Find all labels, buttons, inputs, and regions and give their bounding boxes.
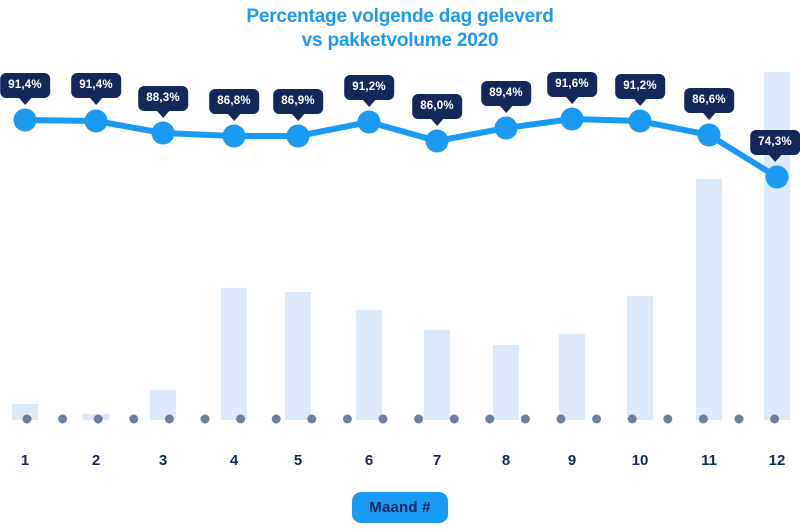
x-axis-title-badge: Maand #	[352, 492, 447, 523]
x-tick-9: 9	[568, 452, 576, 469]
baseline-dot	[592, 415, 601, 424]
value-label-month-9: 91,6%	[547, 72, 597, 97]
x-tick-3: 3	[159, 452, 167, 469]
baseline-dot	[557, 415, 566, 424]
bar-month-7	[424, 330, 450, 420]
x-tick-11: 11	[701, 452, 717, 469]
x-tick-6: 6	[365, 452, 373, 469]
bar-month-5	[285, 292, 311, 420]
x-tick-7: 7	[433, 452, 441, 469]
x-axis: 123456789101112	[0, 452, 800, 482]
baseline-dot	[343, 415, 352, 424]
value-label-month-4: 86,8%	[209, 89, 259, 114]
value-label-month-5: 86,9%	[273, 89, 323, 114]
baseline-dot	[414, 415, 423, 424]
baseline-dot	[770, 415, 779, 424]
bar-month-6	[356, 310, 382, 420]
baseline-dot	[165, 415, 174, 424]
baseline-dot	[450, 415, 459, 424]
baseline-dot	[58, 415, 67, 424]
bar-month-8	[493, 345, 519, 420]
baseline-dot	[236, 415, 245, 424]
x-tick-12: 12	[769, 452, 786, 469]
baseline-dot	[699, 415, 708, 424]
line-marker-month-7[interactable]	[426, 130, 449, 153]
value-label-month-7: 86,0%	[412, 94, 462, 119]
x-tick-1: 1	[21, 452, 29, 469]
bar-month-12	[764, 72, 790, 420]
baseline-dot	[521, 415, 530, 424]
line-marker-month-3[interactable]	[152, 122, 175, 145]
baseline-dot	[379, 415, 388, 424]
baseline-dot	[485, 415, 494, 424]
baseline-dot	[735, 415, 744, 424]
line-markers	[14, 108, 789, 189]
line-marker-month-2[interactable]	[85, 110, 108, 133]
x-tick-2: 2	[92, 452, 100, 469]
line-marker-month-6[interactable]	[358, 111, 381, 134]
baseline-dot	[663, 415, 672, 424]
value-label-month-8: 89,4%	[481, 81, 531, 106]
baseline-dot	[23, 415, 32, 424]
bar-month-10	[627, 296, 653, 420]
value-label-month-1: 91,4%	[0, 73, 50, 98]
line-marker-month-9[interactable]	[561, 108, 584, 131]
line-marker-month-11[interactable]	[698, 124, 721, 147]
line-marker-month-12[interactable]	[766, 166, 789, 189]
x-tick-10: 10	[632, 452, 649, 469]
line-series	[25, 119, 777, 177]
baseline-dot	[129, 415, 138, 424]
x-axis-title-wrap: Maand #	[0, 492, 800, 523]
chart-container: Percentage volgende dag geleverd vs pakk…	[0, 0, 800, 532]
baseline-dots	[23, 415, 780, 424]
baseline-dot	[94, 415, 103, 424]
baseline-dot	[272, 415, 281, 424]
baseline-dot	[201, 415, 210, 424]
line-marker-month-10[interactable]	[629, 110, 652, 133]
line-marker-month-4[interactable]	[223, 125, 246, 148]
line-marker-month-1[interactable]	[14, 109, 37, 132]
bar-month-9	[559, 334, 585, 420]
plot-svg	[0, 0, 800, 440]
line-marker-month-8[interactable]	[495, 117, 518, 140]
plot-area	[0, 0, 800, 440]
value-label-month-3: 88,3%	[138, 86, 188, 111]
x-tick-5: 5	[294, 452, 302, 469]
value-label-month-6: 91,2%	[344, 75, 394, 100]
value-label-month-2: 91,4%	[71, 73, 121, 98]
baseline-dot	[307, 415, 316, 424]
value-label-month-12: 74,3%	[750, 130, 800, 155]
bar-month-4	[221, 288, 247, 420]
x-tick-8: 8	[502, 452, 510, 469]
line-marker-month-5[interactable]	[287, 125, 310, 148]
baseline-dot	[628, 415, 637, 424]
bar-month-11	[696, 179, 722, 420]
x-tick-4: 4	[230, 452, 238, 469]
value-label-month-10: 91,2%	[615, 74, 665, 99]
value-label-month-11: 86,6%	[684, 88, 734, 113]
